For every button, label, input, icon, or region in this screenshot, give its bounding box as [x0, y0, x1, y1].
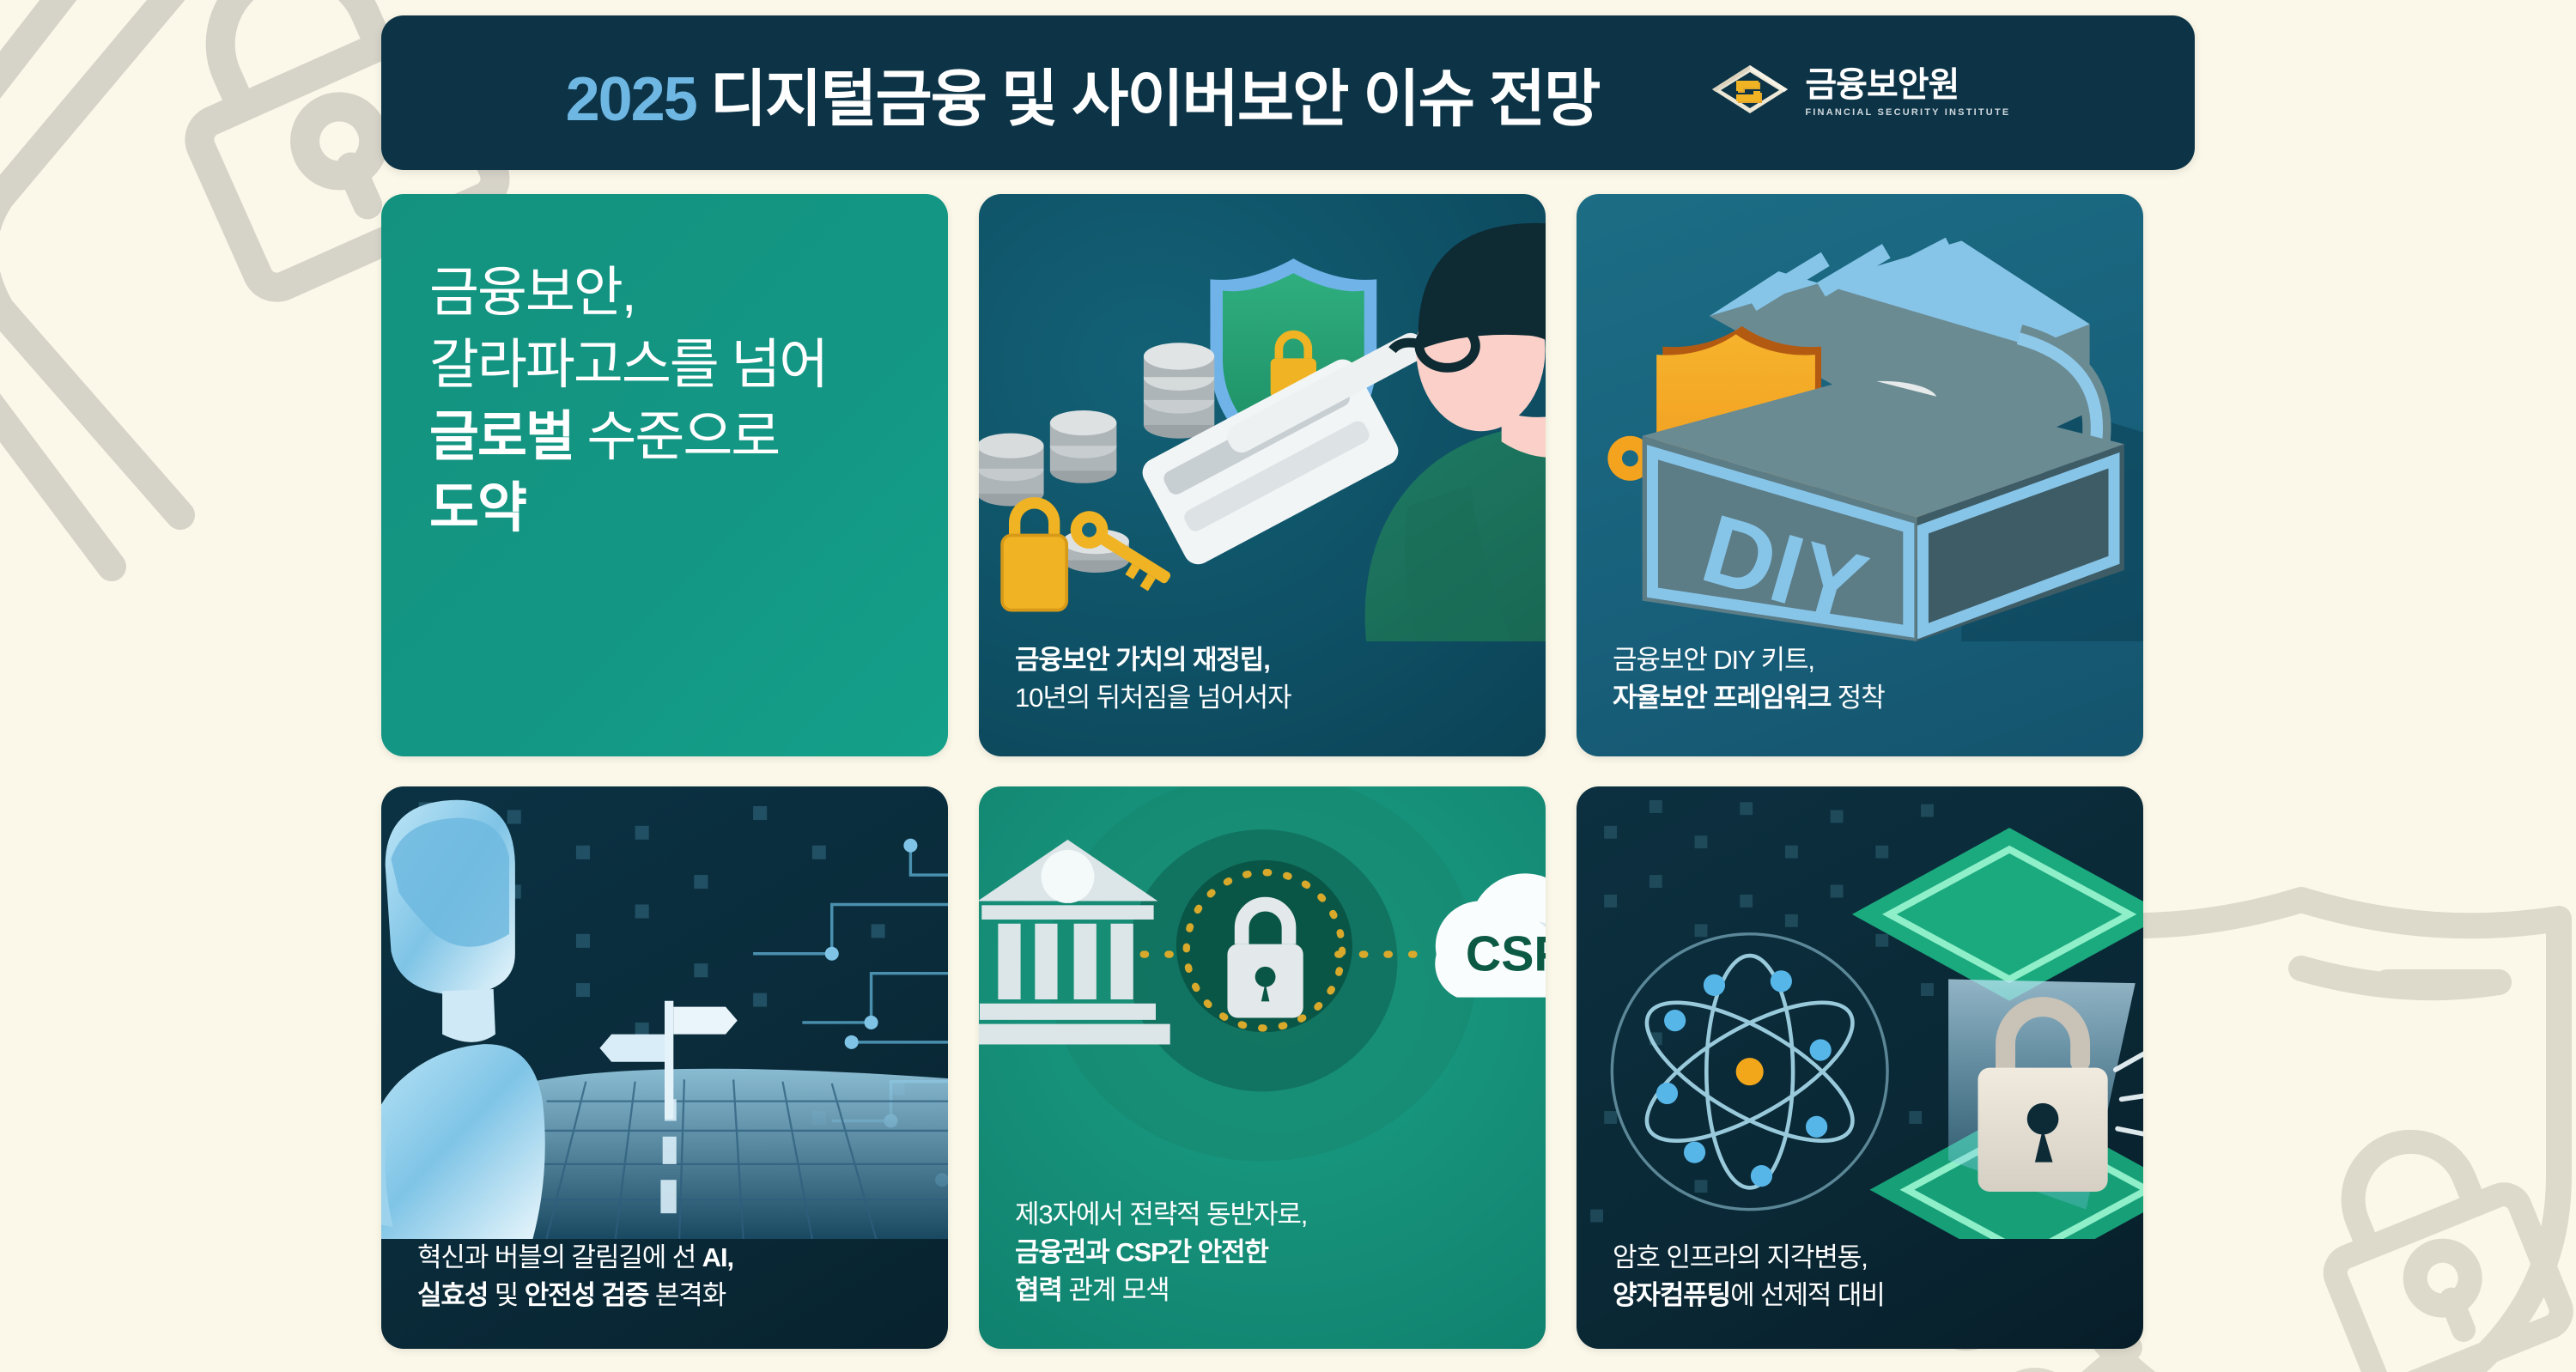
issue-card-grid: 금융보안, 갈라파고스를 넘어 글로벌 수준으로 도약 — [381, 194, 2195, 1349]
caption-line-3-rest: 관계 모색 — [1062, 1275, 1170, 1305]
fsi-diamond-logo-icon — [1710, 62, 1789, 124]
lead-line-2: 갈라파고스를 넘어 — [429, 330, 900, 402]
caption-line-1: 금융보안 DIY 키트, — [1613, 641, 2107, 679]
card-caption: 금융보안 DIY 키트, 자율보안 프레임워크 정착 — [1577, 641, 2143, 756]
card-caption: 암호 인프라의 지각변동, 양자컴퓨팅에 선제적 대비 — [1577, 1239, 2143, 1349]
illustration-ai-robot-crossroads — [381, 786, 948, 1239]
card-caption: 혁신과 버블의 갈림길에 선 AI, 실효성 및 안전성 검증 본격화 — [381, 1239, 948, 1349]
logo-name: 금융보안원 — [1805, 68, 2010, 102]
caption-line-2-rest: 본격화 — [648, 1280, 726, 1310]
caption-line-2: 실효성 및 안전성 검증 본격화 — [417, 1277, 912, 1314]
title-text: 디지털금융 및 사이버보안 이슈 전망 — [710, 48, 1600, 138]
caption-line-3: 협력 관계 모색 — [1015, 1272, 1510, 1309]
caption-line-1-prefix: 혁신과 버블의 갈림길에 선 — [417, 1242, 702, 1272]
lead-headline-text: 금융보안, 갈라파고스를 넘어 글로벌 수준으로 도약 — [429, 258, 900, 545]
illustration-bank-lock-cloud: CSP — [979, 786, 1546, 1196]
card-issue-diy-kit[interactable]: DIY 금융보안 DIY 키트, 자율보안 프레임워크 정착 — [1577, 194, 2143, 756]
card-issue-value-redefinition[interactable]: 금융보안 가치의 재정립, 10년의 뒤처짐을 넘어서자 — [979, 194, 1546, 756]
ai-robot-figure — [381, 800, 545, 1239]
padlock-icon — [1002, 503, 1066, 610]
card-lead-headline[interactable]: 금융보안, 갈라파고스를 넘어 글로벌 수준으로 도약 — [381, 194, 948, 756]
lead-line-1: 금융보안, — [429, 258, 900, 330]
infographic-page: 2025 디지털금융 및 사이버보안 이슈 전망 금융보안원 FINANCIAL… — [0, 0, 2576, 1372]
caption-line-2: 금융권과 CSP간 안전한 — [1015, 1234, 1510, 1272]
illustration-person-coins-shield — [979, 194, 1546, 641]
lead-line-3: 글로벌 수준으로 — [429, 402, 900, 474]
caption-line-2-bold: 자율보안 프레임워크 — [1613, 683, 1831, 713]
caption-line-2: 자율보안 프레임워크 정착 — [1613, 679, 2107, 717]
binary-pattern — [1577, 800, 1934, 1222]
title-year: 2025 — [566, 64, 696, 135]
page-title: 2025 디지털금융 및 사이버보안 이슈 전망 — [566, 48, 1600, 138]
lead-line-3-rest: 수준으로 — [574, 407, 779, 467]
card-issue-ai-crossroads[interactable]: 혁신과 버블의 갈림길에 선 AI, 실효성 및 안전성 검증 본격화 — [381, 786, 948, 1349]
lead-line-3-bold: 글로벌 — [429, 407, 574, 467]
card-caption: 금융보안 가치의 재정립, 10년의 뒤처짐을 넘어서자 — [979, 641, 1546, 756]
header-bar: 2025 디지털금융 및 사이버보안 이슈 전망 금융보안원 FINANCIAL… — [381, 15, 2195, 170]
illustration-diy-treasure-chest: DIY — [1577, 194, 2143, 641]
card-issue-csp-partnership[interactable]: CSP 제3자에서 전략적 동반자로, 금융권과 CSP간 안전한 협력 관계 … — [979, 786, 1546, 1349]
crack-sparks — [2116, 1044, 2143, 1138]
card-issue-quantum-computing[interactable]: 암호 인프라의 지각변동, 양자컴퓨팅에 선제적 대비 — [1577, 786, 2143, 1349]
caption-line-2-rest: 정착 — [1831, 683, 1884, 713]
atom-nucleus — [1736, 1058, 1764, 1085]
caption-line-1: 암호 인프라의 지각변동, — [1613, 1239, 2107, 1277]
caption-line-2: 10년의 뒤처짐을 넘어서자 — [1015, 679, 1510, 717]
lead-line-4: 도약 — [429, 473, 900, 545]
quantum-atom-icon — [1612, 934, 1887, 1210]
caption-line-2-bold: 양자컴퓨팅 — [1613, 1280, 1730, 1310]
caption-line-2-bold-2: 안전성 검증 — [525, 1280, 649, 1310]
caption-line-3-bold: 협력 — [1015, 1275, 1062, 1305]
cloud-label-text: CSP — [1466, 927, 1546, 982]
caption-line-1-bold: AI, — [702, 1242, 733, 1272]
caption-line-2-rest: 에 선제적 대비 — [1730, 1280, 1885, 1310]
caption-line-1: 제3자에서 전략적 동반자로, — [1015, 1196, 1510, 1234]
person-figure — [1365, 223, 1546, 641]
road-grid — [488, 1069, 948, 1239]
illustration-quantum-atom-broken-lock — [1577, 786, 2143, 1239]
caption-line-2-bold-1: 실효성 — [417, 1280, 488, 1310]
caption-line-2-mid: 및 — [488, 1280, 524, 1310]
caption-line-2: 양자컴퓨팅에 선제적 대비 — [1613, 1277, 2107, 1314]
organization-logo: 금융보안원 FINANCIAL SECURITY INSTITUTE — [1710, 62, 2010, 124]
logo-subtitle: FINANCIAL SECURITY INSTITUTE — [1805, 108, 2010, 118]
card-caption: 제3자에서 전략적 동반자로, 금융권과 CSP간 안전한 협력 관계 모색 — [979, 1196, 1546, 1349]
caption-line-1: 혁신과 버블의 갈림길에 선 AI, — [417, 1239, 912, 1277]
caption-line-1: 금융보안 가치의 재정립, — [1015, 641, 1510, 679]
